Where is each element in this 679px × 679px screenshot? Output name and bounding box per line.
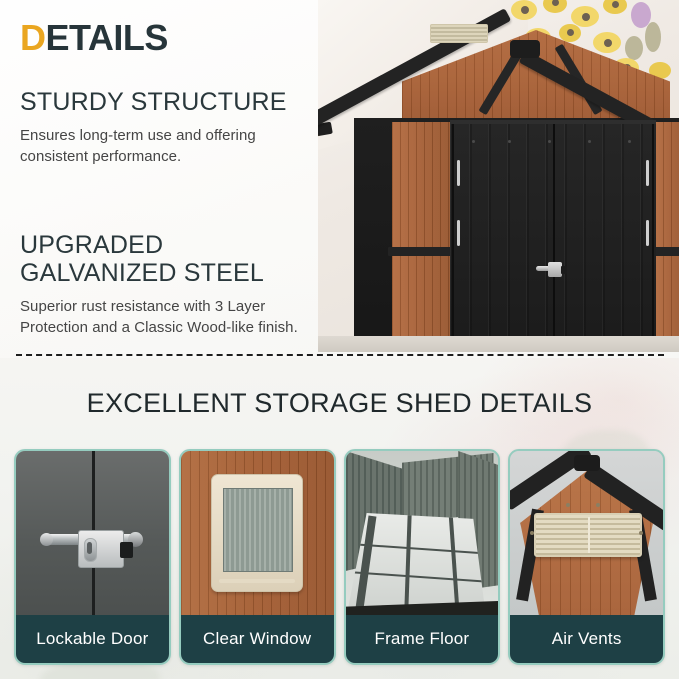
door-center-seam: [553, 124, 555, 352]
card-label: Lockable Door: [16, 615, 169, 663]
feature-card-frame-floor[interactable]: Frame Floor: [344, 449, 501, 665]
feature-block-sturdy-structure: STURDY STRUCTURE Ensures long-term use a…: [20, 88, 320, 168]
page-title-initial: D: [20, 17, 46, 58]
door-edge-right: [652, 124, 654, 352]
door-latch-lock-icon: [536, 262, 566, 277]
wall-trim-left: [388, 247, 454, 256]
door-edge-left: [452, 124, 454, 352]
feature-block-galvanized-steel: UPGRADED GALVANIZED STEEL Superior rust …: [20, 231, 320, 339]
feature-card-lockable-door[interactable]: Lockable Door: [14, 449, 171, 665]
card-label: Air Vents: [510, 615, 663, 663]
wood-panel-left-upper: [392, 122, 450, 247]
door-hinge-icon: [457, 220, 460, 246]
feature-heading: STURDY STRUCTURE: [20, 88, 320, 116]
air-vent-louver-icon: [510, 451, 663, 615]
door-lock-latch-icon: [16, 451, 169, 615]
card-label: Clear Window: [181, 615, 334, 663]
product-detail-page: DETAILS STURDY STRUCTURE Ensures long-te…: [0, 0, 679, 679]
floor-frame-icon: [346, 451, 499, 615]
photo-ground: [318, 336, 679, 352]
page-title: DETAILS: [20, 20, 168, 56]
section-title: EXCELLENT STORAGE SHED DETAILS: [0, 388, 679, 419]
page-title-rest: ETAILS: [46, 17, 168, 58]
feature-card-list: Lockable Door Clear Window: [14, 449, 665, 665]
window-icon: [181, 451, 334, 615]
shed-double-doors: [450, 120, 656, 352]
door-hinge-icon: [457, 160, 460, 186]
feature-card-air-vents[interactable]: Air Vents: [508, 449, 665, 665]
section-divider: [16, 354, 664, 356]
gable-air-vent-icon: [430, 24, 488, 43]
feature-body: Ensures long-term use and offering consi…: [20, 125, 320, 168]
door-hinge-icon: [646, 220, 649, 246]
feature-body: Superior rust resistance with 3 Layer Pr…: [20, 296, 320, 339]
door-hinge-icon: [646, 160, 649, 186]
feature-card-clear-window[interactable]: Clear Window: [179, 449, 336, 665]
wall-trim-right: [653, 247, 679, 256]
card-label: Frame Floor: [346, 615, 499, 663]
roof-ridge-cap: [510, 40, 540, 58]
feature-heading: UPGRADED GALVANIZED STEEL: [20, 231, 320, 287]
wood-panel-right-upper: [655, 122, 679, 247]
shed-product-photo: [318, 0, 679, 352]
